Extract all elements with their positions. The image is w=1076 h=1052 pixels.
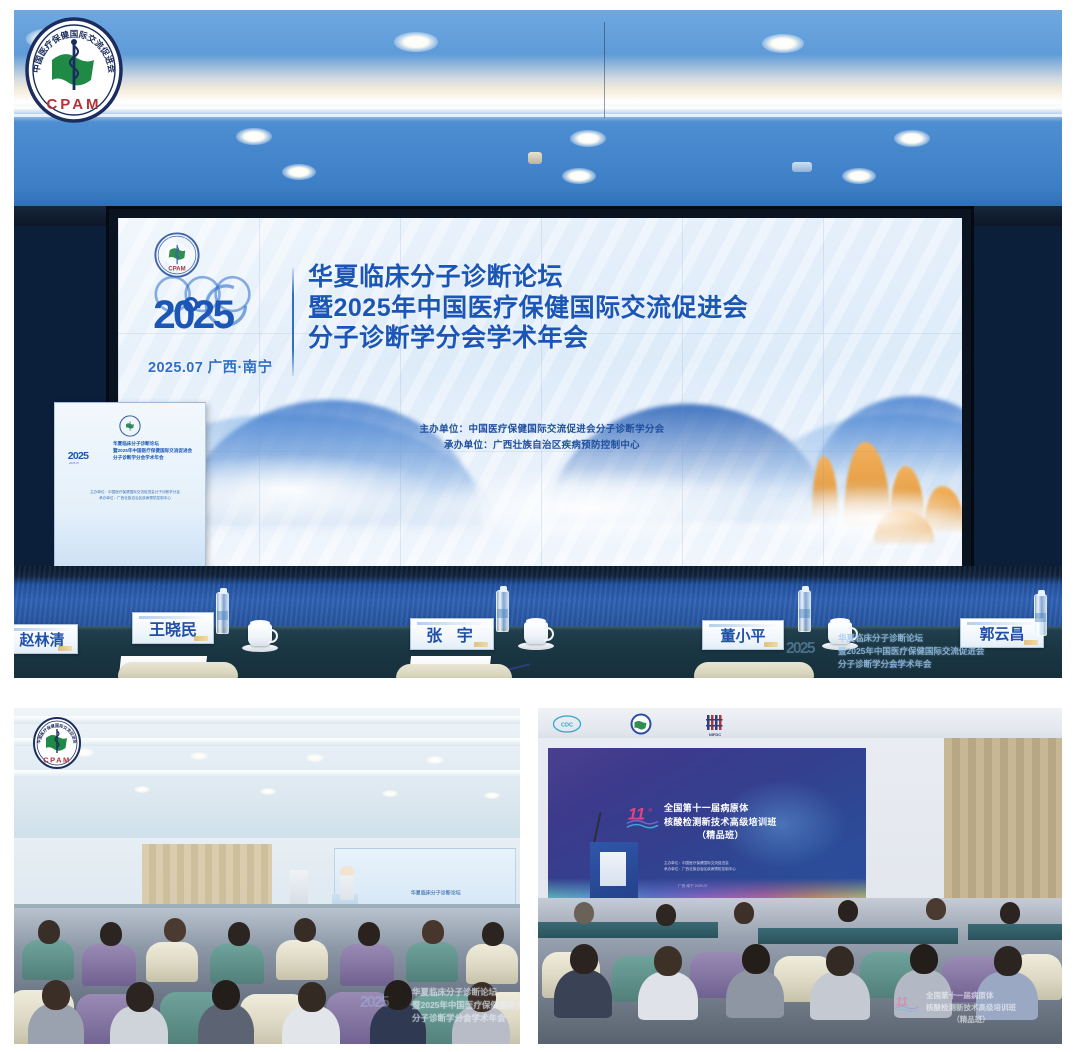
seat <box>22 940 74 980</box>
downlight-icon <box>842 168 876 184</box>
svg-text:2025: 2025 <box>68 450 89 462</box>
svg-text:CPAM: CPAM <box>43 756 71 765</box>
collage-page: CPAM 2025 2025.07 广西·南宁 <box>0 0 1076 1052</box>
audience-head <box>228 922 250 946</box>
speaker-person <box>340 866 354 900</box>
ceiling-beam <box>14 770 520 778</box>
rollup-sub-line-2: 承办单位：广西壮族自治区疾病预防控制中心 <box>83 495 187 501</box>
audience-person <box>28 1004 84 1044</box>
audience-head <box>574 902 594 924</box>
audience-head <box>126 982 154 1012</box>
chair-back <box>118 662 238 678</box>
training-title-line-1: 全国第十一届病原体 <box>664 802 777 816</box>
cdc-icon: CDC <box>552 712 582 738</box>
chair-back <box>396 664 512 678</box>
audience-head <box>482 922 504 946</box>
ceiling-seam <box>14 106 1062 109</box>
banner-divider <box>292 268 294 376</box>
podium <box>590 842 638 902</box>
screen-text: 华夏临床分子诊断论坛 <box>411 889 461 896</box>
ceiling-wire <box>604 22 605 118</box>
audience-head <box>298 982 326 1012</box>
banner-title-line-3: 分子诊断学分会学术年会 <box>308 323 748 354</box>
ceiling-fixture <box>792 162 812 172</box>
rollup-title-line-1: 华夏临床分子诊断论坛 <box>113 441 201 448</box>
audience-head <box>42 980 70 1010</box>
water-bottle <box>798 590 811 632</box>
audience-head <box>826 946 854 976</box>
placard-name: 赵林清 <box>19 629 64 650</box>
podium-card <box>600 852 626 886</box>
chair-back <box>694 662 814 678</box>
audience-head <box>294 918 316 942</box>
downlight-icon <box>562 168 596 184</box>
main-conference-photo: CPAM 2025 2025.07 广西·南宁 <box>14 10 1062 678</box>
audience-head <box>212 980 240 1010</box>
audience-head <box>742 944 770 974</box>
downlight-icon <box>762 34 804 53</box>
ceiling-beam <box>14 738 520 746</box>
cpam-seal-icon: 中国医疗保健国际交流促进会 CPAM <box>32 716 82 770</box>
placard-name: 张 宇 <box>426 622 477 646</box>
seat <box>210 944 264 984</box>
water-bottle <box>1034 594 1047 636</box>
downlight-icon <box>236 128 272 145</box>
placard-name: 董小平 <box>720 625 765 646</box>
cpam-seal-icon <box>626 712 656 738</box>
banner-date-location: 2025.07 广西·南宁 <box>148 356 272 377</box>
training-sub-line-2: 承办单位：广西壮族自治区疾病预防控制中心 <box>664 866 736 872</box>
downlight-icon <box>570 130 606 147</box>
training-sub-block: 主办单位：中国医疗保健国际交流促进会 承办单位：广西壮族自治区疾病预防控制中心 <box>664 860 736 873</box>
placard-name: 郭云昌 <box>979 623 1024 644</box>
desk <box>968 924 1062 940</box>
placard-name: 王晓民 <box>149 616 197 640</box>
audience-head <box>734 902 754 924</box>
training-title-block: 全国第十一届病原体 核酸检测新技术高级培训班 （精品班） <box>664 802 777 843</box>
seat <box>466 944 518 984</box>
training-title-bracket: （精品班） <box>664 829 777 843</box>
audience-person <box>976 972 1038 1020</box>
audience-head <box>422 920 444 944</box>
audience-person <box>554 970 612 1018</box>
downlight-icon <box>894 130 930 147</box>
downlight-icon <box>190 752 208 760</box>
seat <box>146 942 198 982</box>
name-placard: 郭云昌 <box>960 618 1044 648</box>
audience-head <box>384 980 412 1010</box>
nifdc-icon: NIFDC <box>700 712 730 738</box>
desk <box>758 928 958 944</box>
audience-head <box>38 920 60 944</box>
banner-title-block: 华夏临床分子诊断论坛 暨2025年中国医疗保健国际交流促进会 分子诊断学分会学术… <box>308 262 748 354</box>
rollup-title-line-3: 分子诊断学分会学术年会 <box>113 455 201 462</box>
name-placard: 董小平 <box>702 620 784 650</box>
audience-head <box>994 946 1022 976</box>
downlight-icon <box>134 786 150 793</box>
audience-head <box>164 918 186 942</box>
rollup-title-line-2: 暨2025年中国医疗保健国际交流促进会 <box>113 448 201 455</box>
rollup-title-block: 华夏临床分子诊断论坛 暨2025年中国医疗保健国际交流促进会 分子诊断学分会学术… <box>113 441 201 462</box>
organizer-line-2: 承办单位：广西壮族自治区疾病预防控制中心 <box>142 438 942 454</box>
audience-person <box>810 972 870 1020</box>
downlight-icon <box>484 792 500 799</box>
lecture-hall-photo: 华夏临床分子诊断论坛 <box>14 708 520 1044</box>
led-screen: CPAM 2025 2025.07 广西·南宁 <box>118 218 962 570</box>
name-placard: 赵林清 <box>14 624 78 654</box>
rollup-sub-block: 主办单位：中国医疗保健国际交流促进会分子诊断学分会 承办单位：广西壮族自治区疾病… <box>83 489 187 501</box>
audience-person <box>726 970 784 1018</box>
audience-person <box>894 970 952 1018</box>
audience-head <box>910 944 938 974</box>
desk <box>538 922 718 938</box>
svg-text:CPAM: CPAM <box>46 96 101 113</box>
teacup <box>828 622 852 644</box>
ceiling-seam <box>14 114 1062 117</box>
top-logo-row: CDC NIFDC <box>552 712 730 738</box>
organizer-line-1: 主办单位：中国医疗保健国际交流促进会分子诊断学分会 <box>142 422 942 438</box>
eleventh-edition-badge-icon: 11 th <box>626 802 660 834</box>
audience-person <box>370 1004 426 1044</box>
training-class-photo: CDC NIFDC <box>538 708 1062 1044</box>
water-bottle <box>496 590 509 632</box>
seat <box>406 942 458 982</box>
downlight-icon <box>260 788 276 795</box>
downlight-icon <box>394 32 438 52</box>
seat <box>82 944 136 986</box>
water-bottle <box>216 592 229 634</box>
audience-head <box>468 982 496 1012</box>
banner-title-line-1: 华夏临床分子诊断论坛 <box>308 262 748 293</box>
downlight-icon <box>382 790 398 797</box>
audience-person <box>638 972 698 1020</box>
audience-head <box>1000 902 1020 924</box>
audience-head <box>358 922 380 946</box>
audience-head <box>926 898 946 920</box>
seat <box>340 944 394 986</box>
name-placard: 王晓民 <box>132 612 214 644</box>
svg-text:2025.07: 2025.07 <box>69 461 80 465</box>
svg-text:th: th <box>648 808 652 814</box>
teacup <box>524 622 548 644</box>
svg-text:CDC: CDC <box>561 723 573 729</box>
audience-head <box>838 900 858 922</box>
downlight-icon <box>426 756 444 764</box>
teacup <box>248 624 272 646</box>
svg-text:NIFDC: NIFDC <box>709 732 721 737</box>
cpam-seal-icon: 中国医疗保健国际交流促进会 CPAM <box>24 16 124 124</box>
audience-head <box>654 946 682 976</box>
training-title-line-2: 核酸检测新技术高级培训班 <box>664 816 777 830</box>
seat <box>276 940 328 980</box>
downlight-icon <box>282 164 316 180</box>
downlight-icon <box>306 754 324 762</box>
year-2025-graphic: 2025 <box>148 272 278 346</box>
ceiling <box>14 10 1062 210</box>
banner-title-line-2: 暨2025年中国医疗保健国际交流促进会 <box>308 293 748 324</box>
name-placard: 张 宇 <box>410 618 494 650</box>
ceiling-beam <box>14 716 520 724</box>
ceiling-fixture <box>528 152 542 164</box>
audience-head <box>570 944 598 974</box>
audience-head <box>656 904 676 926</box>
banner-organizer-block: 主办单位：中国医疗保健国际交流促进会分子诊断学分会 承办单位：广西壮族自治区疾病… <box>142 422 942 453</box>
cpam-seal-icon <box>119 415 141 437</box>
audience-head <box>100 922 122 946</box>
audience-person <box>198 1004 254 1044</box>
rollup-2025-graphic: 2025 2025.07 <box>67 445 109 467</box>
